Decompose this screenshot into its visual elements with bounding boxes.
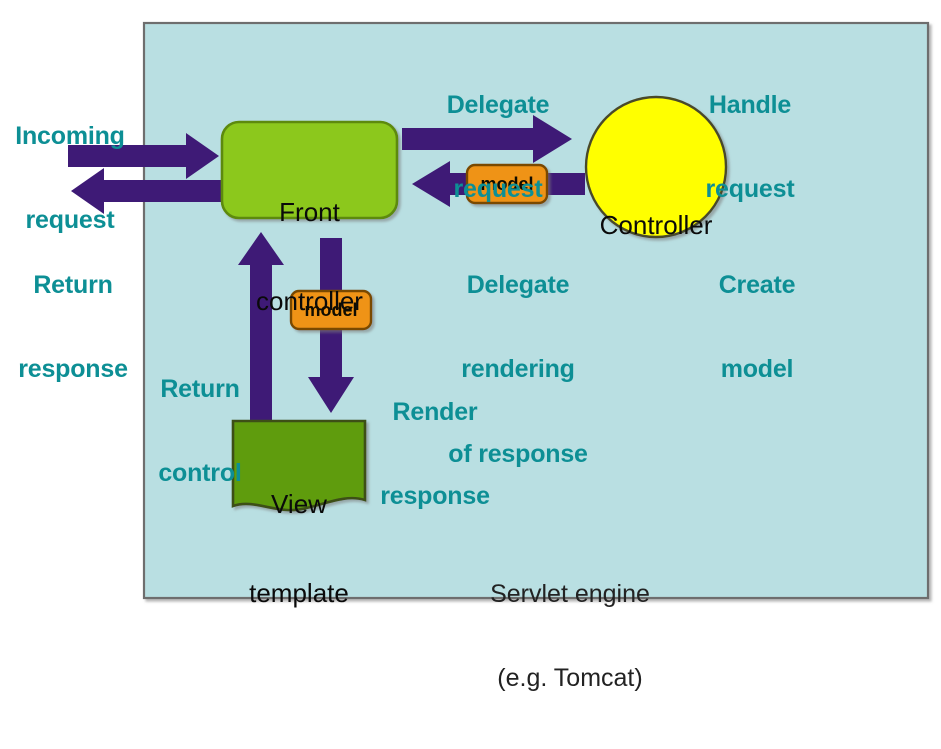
front-controller-node[interactable]: [222, 122, 397, 218]
label-return-control-line2: control: [140, 459, 260, 487]
servlet-engine-caption: Servlet engine (e.g. Tomcat): [420, 523, 720, 749]
label-return-response-line1: Return: [0, 271, 146, 299]
label-return-response-line2: response: [0, 355, 146, 383]
label-return-response: Return response: [0, 214, 146, 440]
label-return-control-line1: Return: [140, 375, 260, 403]
label-return-control: Return control: [140, 318, 260, 544]
mvc-flow-diagram: Front controller Controller View templat…: [0, 0, 941, 611]
label-delegate-rendering-line1: Delegate: [436, 271, 600, 299]
label-delegate-request-line1: Delegate: [418, 91, 578, 119]
label-delegate-request-line2: request: [418, 175, 578, 203]
label-render-response-line1: Render: [362, 398, 508, 426]
label-create-model-line1: Create: [697, 271, 817, 299]
servlet-engine-caption-line2: (e.g. Tomcat): [420, 664, 720, 692]
label-create-model: Create model: [697, 214, 817, 440]
label-handle-request-line2: request: [680, 175, 820, 203]
model-badge-view[interactable]: [291, 291, 371, 329]
label-incoming-request-line1: Incoming: [0, 122, 140, 150]
servlet-engine-caption-line1: Servlet engine: [420, 580, 720, 608]
label-render-response-line2: response: [362, 482, 508, 510]
label-create-model-line2: model: [697, 355, 817, 383]
label-handle-request-line1: Handle: [680, 91, 820, 119]
